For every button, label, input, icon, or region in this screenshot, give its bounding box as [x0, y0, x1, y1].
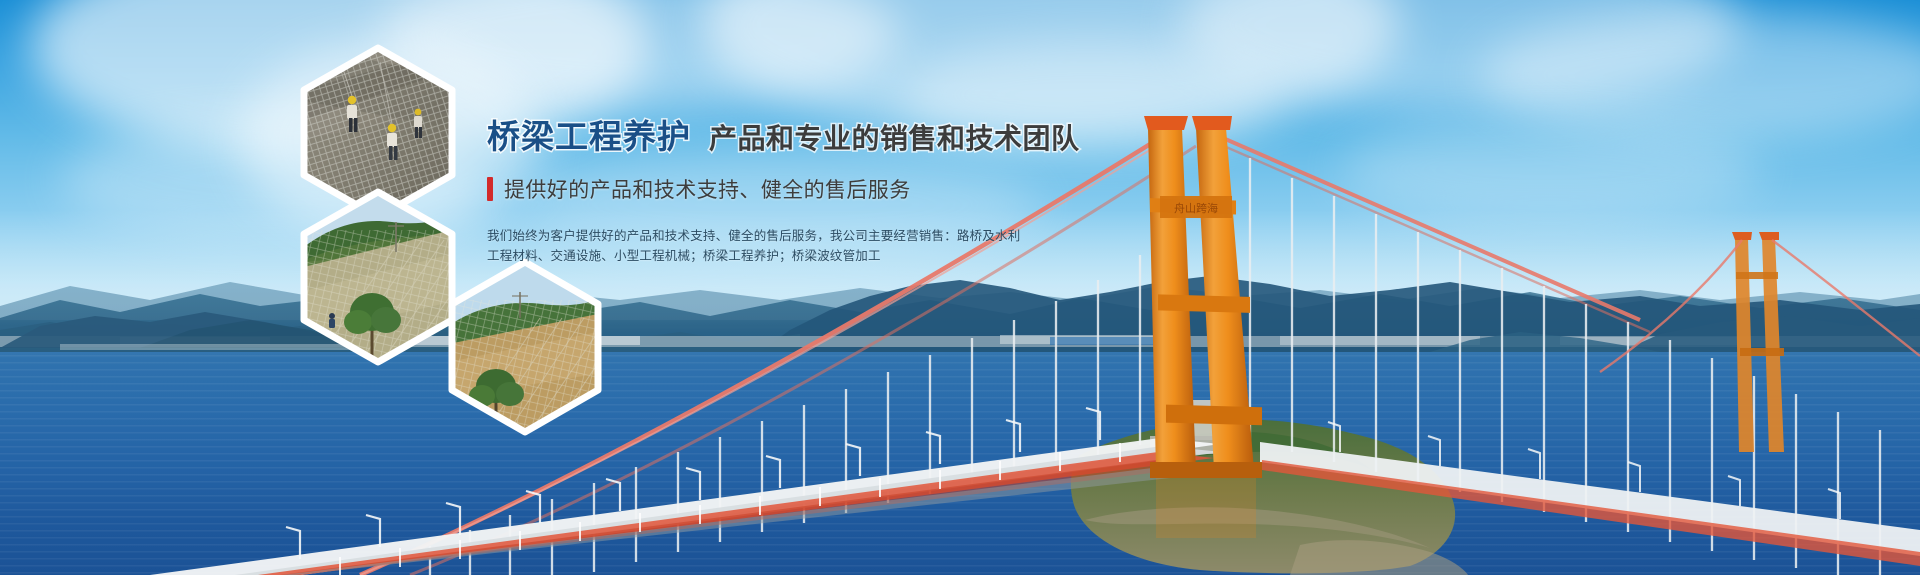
- subheadline-row: 提供好的产品和技术支持、健全的售后服务: [487, 174, 1127, 204]
- description-paragraph: 我们始终为客户提供好的产品和技术支持、健全的售后服务，我公司主要经营销售：路桥及…: [487, 226, 907, 266]
- svg-text:舟山跨海: 舟山跨海: [1174, 201, 1218, 215]
- banner-text-block: 桥梁工程养护 产品和专业的销售和技术团队 提供好的产品和技术支持、健全的售后服务…: [487, 120, 1127, 266]
- promotional-banner: 舟山跨海: [0, 0, 1920, 575]
- headline: 桥梁工程养护 产品和专业的销售和技术团队: [487, 120, 1127, 153]
- hexagon-photo-group: [0, 0, 620, 575]
- accent-bar-icon: [487, 177, 493, 201]
- hexagon-photo-2[interactable]: [300, 188, 460, 370]
- headline-sub: 产品和专业的销售和技术团队: [709, 125, 1080, 153]
- description-line-2: 工程材料、交通设施、小型工程机械；桥梁工程养护；桥梁波纹管加工: [487, 246, 907, 266]
- water-reflection: [1156, 478, 1256, 538]
- hexagon-photo-3[interactable]: [448, 258, 608, 440]
- headline-main: 桥梁工程养护: [487, 120, 691, 153]
- description-line-1: 我们始终为客户提供好的产品和技术支持、健全的售后服务，我公司主要经营销售：路桥及…: [487, 226, 907, 246]
- subheadline-text: 提供好的产品和技术支持、健全的售后服务: [504, 174, 911, 204]
